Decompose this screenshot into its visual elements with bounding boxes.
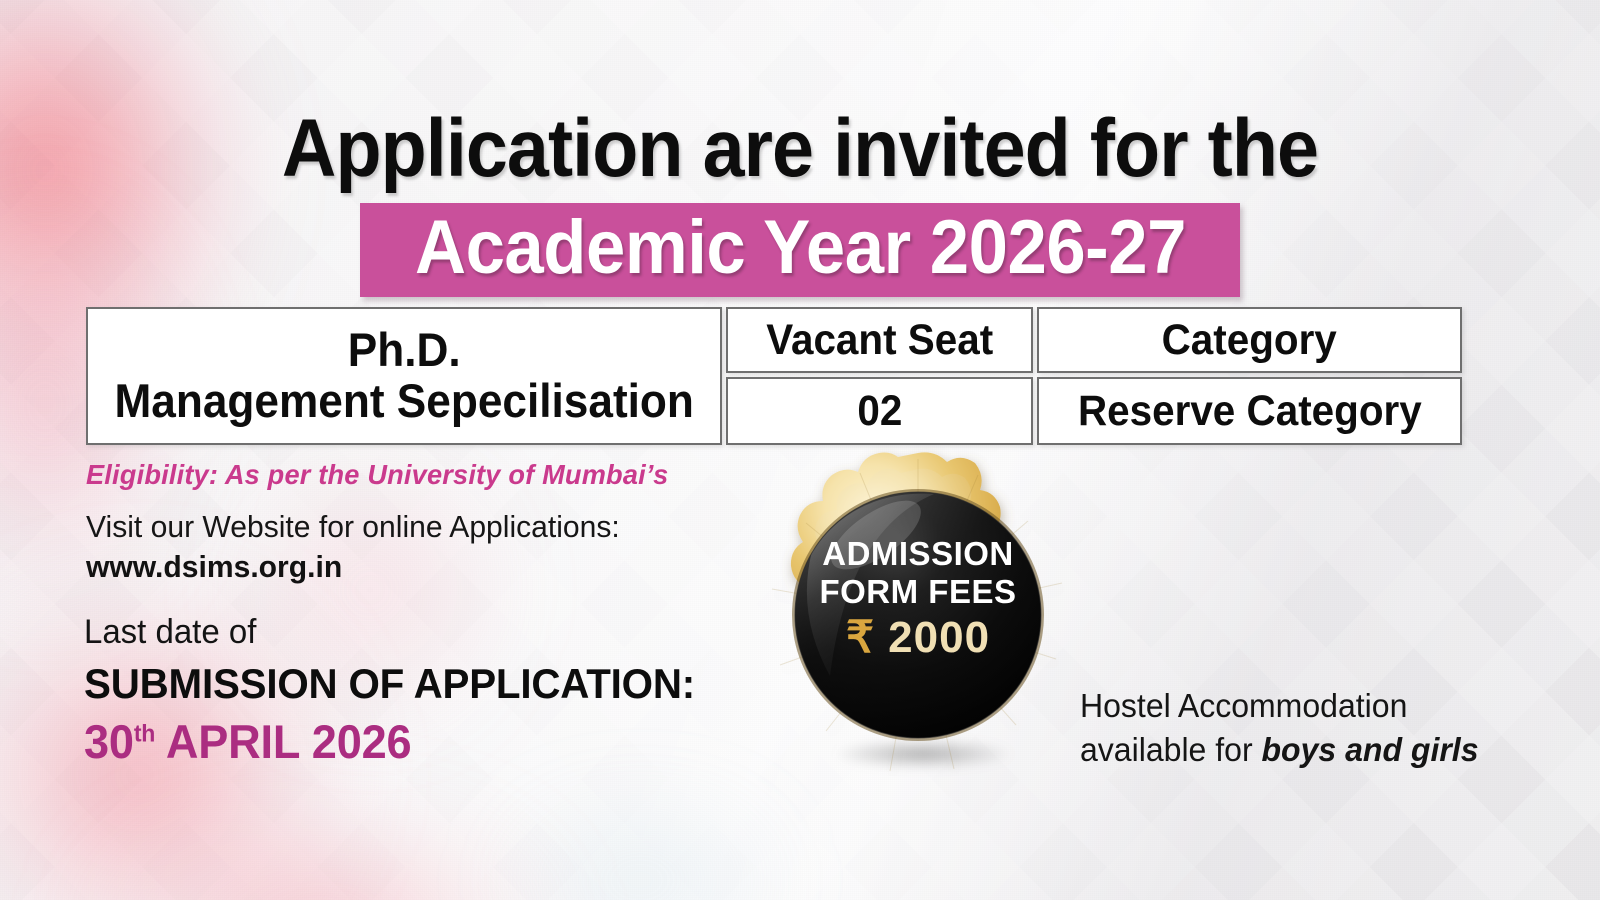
hostel-line-2-lead: available for [1080,731,1261,768]
last-date-label: Last date of [84,613,256,652]
deadline-date: 30th APRIL 2026 [84,714,411,769]
admission-poster: Application are invited for the Academic… [0,0,1600,900]
website-url[interactable]: www.dsims.org.in [86,549,342,585]
table-cell-course: Ph.D. Management Sepecilisation [86,307,722,445]
badge-seal-icon [748,443,1088,788]
deadline-day: 30 [84,715,134,768]
category-value: Reserve Category [1078,388,1422,434]
deadline-ordinal-suffix: th [134,720,155,747]
vacant-seat-header-label: Vacant Seat [766,317,993,363]
table-header-vacant-seat: Vacant Seat [726,307,1033,373]
seat-table: Ph.D. Management Sepecilisation Vacant S… [86,307,1462,445]
headline-line-1: Application are invited for the [64,108,1536,190]
category-header-label: Category [1162,317,1337,363]
table-cell-category-value: Reserve Category [1037,377,1462,445]
course-degree: Ph.D. [114,325,693,376]
submission-label: SUBMISSION OF APPLICATION: [84,660,695,708]
deadline-month-year: APRIL 2026 [155,715,411,768]
course-specialisation: Management Sepecilisation [114,376,693,427]
hostel-note: Hostel Accommodation available for boys … [1080,684,1507,772]
academic-year-banner: Academic Year 2026-27 [360,203,1241,297]
admission-fee-badge: ADMISSION FORM FEES ₹ 2000 [748,443,1088,788]
vacant-seat-value: 02 [857,388,902,434]
table-cell-vacant-seat-value: 02 [726,377,1033,445]
hostel-line-1: Hostel Accommodation [1080,687,1407,724]
course-name: Ph.D. Management Sepecilisation [114,325,693,427]
headline-highlight: Academic Year 2026-27 [0,203,1600,297]
visit-website-prompt: Visit our Website for online Application… [86,509,620,545]
hostel-emphasis: boys and girls [1261,731,1478,768]
eligibility-note: Eligibility: As per the University of Mu… [86,459,668,491]
table-header-category: Category [1037,307,1462,373]
headline-line-2: Academic Year 2026-27 [415,210,1186,286]
